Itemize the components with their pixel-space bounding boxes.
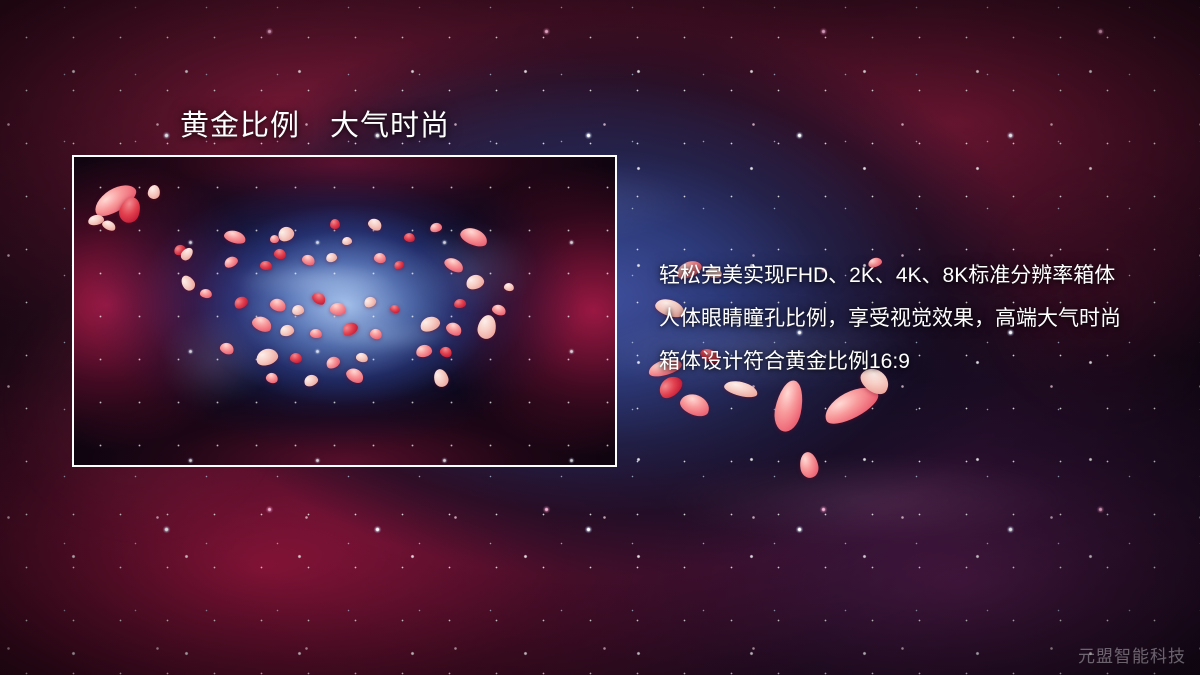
slide-title: 黄金比例 大气时尚 [180,102,450,144]
petal [677,390,712,420]
frame-starfield [74,157,615,465]
body-text-block: 轻松完美实现FHD、2K、4K、8K标准分辨率箱体 人体眼睛瞳孔比例，享受视觉效… [659,254,1179,383]
body-line-3: 箱体设计符合黄金比例16:9 [659,340,1179,383]
petal [798,451,820,480]
body-line-2: 人体眼睛瞳孔比例，享受视觉效果，高端大气时尚 [659,297,1179,340]
body-line-1: 轻松完美实现FHD、2K、4K、8K标准分辨率箱体 [659,254,1179,297]
presentation-slide: 黄金比例 大气时尚 轻松完美实现FHD、2K、4K、8K标准分辨率箱体 人体眼睛… [0,0,1200,675]
petal [771,378,807,434]
watermark-text: 元盟智能科技 [1078,642,1186,667]
petal [819,380,882,430]
framed-image [72,155,617,467]
